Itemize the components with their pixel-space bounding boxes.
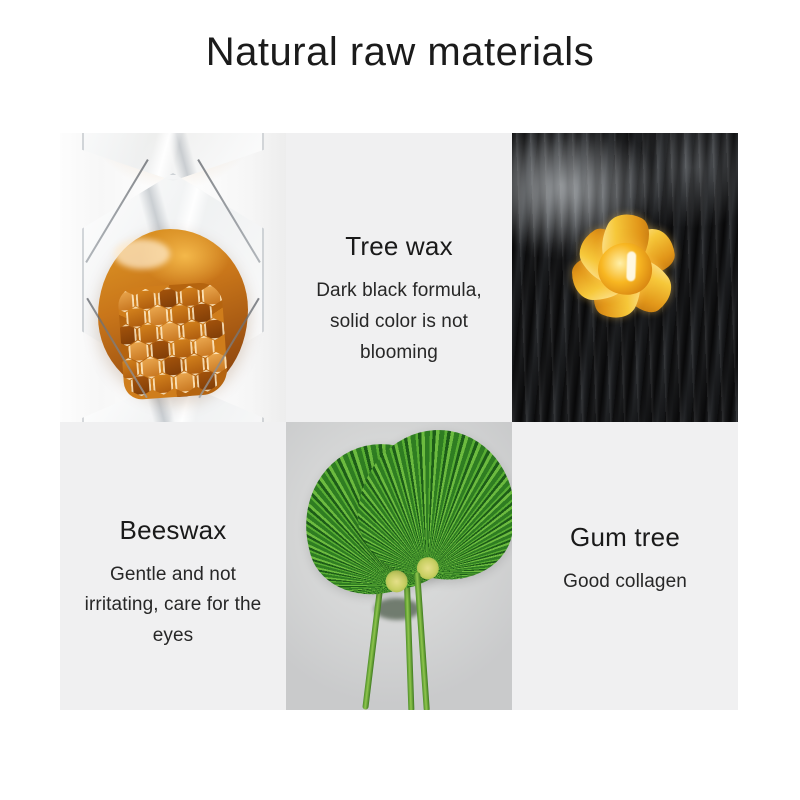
tile-tree-resin-image [512,133,738,422]
honeycomb-in-glass-jar-photo [60,133,286,422]
resin-highlight [627,251,637,281]
honeycomb-hex-cell [152,372,173,395]
product-ingredients-infographic: Natural raw materials [0,0,800,800]
amber-resin-cluster [558,202,692,336]
gum-tree-heading: Gum tree [570,522,680,553]
honeycomb-chunk [117,282,229,401]
tree-resin-on-bark-photo [512,133,738,422]
gum-tree-description: Good collagen [563,567,687,598]
beeswax-heading: Beeswax [120,515,227,546]
honeycomb-hex-cell [174,371,195,394]
page-title: Natural raw materials [0,30,800,74]
tile-honeycomb-image [60,133,286,422]
palm-stem [404,571,415,710]
palm-stem [362,582,384,710]
tile-palm-leaves-image [286,422,512,711]
tile-beeswax: Beeswax Gentle and not irritating, care … [60,422,286,711]
materials-grid: Tree wax Dark black formula, solid color… [60,133,738,710]
tile-tree-wax: Tree wax Dark black formula, solid color… [286,133,512,422]
beeswax-description: Gentle and not irritating, care for the … [78,560,268,652]
tree-wax-description: Dark black formula, solid color is not b… [304,276,494,368]
fan-palm-leaves-photo [286,422,512,711]
tree-wax-heading: Tree wax [345,231,453,262]
tile-gum-tree: Gum tree Good collagen [512,422,738,711]
palm-stem [414,571,430,710]
